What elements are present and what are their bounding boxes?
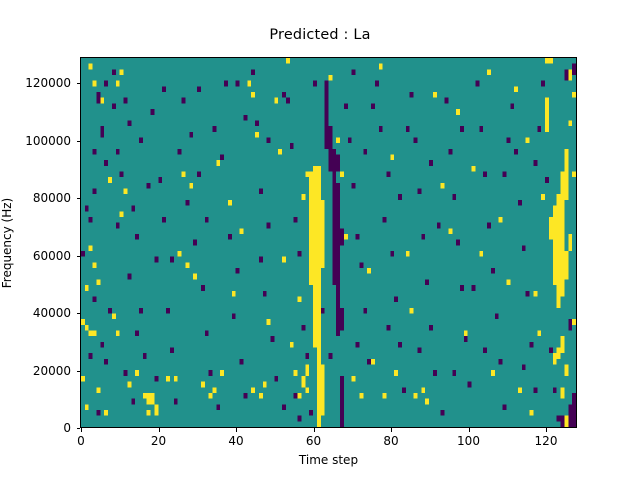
y-axis-label-wrap: Frequency (Hz) [0,57,14,428]
x-tick-label: 80 [383,434,398,448]
y-tick-mark [77,313,81,314]
x-tick-mark [81,428,82,432]
x-axis-label: Time step [80,453,577,467]
y-tick-mark [77,371,81,372]
y-tick-mark [77,256,81,257]
x-tick-mark [391,428,392,432]
y-tick-mark [77,428,81,429]
heatmap-plot-area [80,57,577,428]
x-tick-mark [236,428,237,432]
matplotlib-figure: Predicted : La 020406080100120 120000100… [0,0,640,480]
x-tick-label: 100 [457,434,480,448]
heatmap-canvas [81,58,576,427]
x-tick-mark [159,428,160,432]
x-tick-mark [314,428,315,432]
chart-title: Predicted : La [0,26,640,44]
y-tick-mark [77,83,81,84]
y-tick-mark [77,198,81,199]
x-tick-label: 60 [306,434,321,448]
x-tick-label: 20 [151,434,166,448]
x-tick-label: 40 [228,434,243,448]
x-tick-label: 0 [77,434,85,448]
x-tick-mark [546,428,547,432]
y-tick-mark [77,141,81,142]
x-tick-mark [469,428,470,432]
x-tick-label: 120 [535,434,558,448]
y-axis-label: Frequency (Hz) [0,197,14,288]
